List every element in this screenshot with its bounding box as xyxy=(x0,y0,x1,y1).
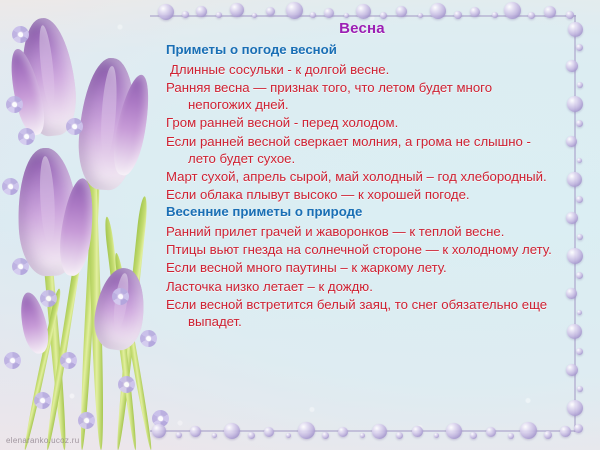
frame-line-bottom xyxy=(150,430,576,432)
list-item: Ласточка низко летает – к дождю. xyxy=(166,278,558,295)
small-lilac-blossom xyxy=(2,178,19,195)
small-lilac-blossom xyxy=(78,412,95,429)
section-heading-nature: Весенние приметы о природе xyxy=(166,204,558,221)
small-lilac-blossom xyxy=(66,118,83,135)
list-item: Если весной встретится белый заяц, то сн… xyxy=(166,296,558,330)
spring-omens-slide: Весна Приметы о погоде весной Длинные со… xyxy=(0,0,600,450)
list-item: Март сухой, апрель сырой, май холодный –… xyxy=(166,168,558,185)
list-item: Ранняя весна — признак того, что летом б… xyxy=(166,79,558,113)
watermark: elenaranko.ucoz.ru xyxy=(6,436,79,445)
list-item: Ранний прилет грачей и жаворонков — к те… xyxy=(166,223,558,240)
list-item: Если облака плывут высоко — к хорошей по… xyxy=(166,186,558,203)
page-title: Весна xyxy=(166,20,558,37)
small-lilac-blossom xyxy=(34,392,51,409)
list-item: Если ранней весной сверкает молния, а гр… xyxy=(166,133,558,167)
small-lilac-blossom xyxy=(140,330,157,347)
small-lilac-blossom xyxy=(60,352,77,369)
small-lilac-blossom xyxy=(12,258,29,275)
small-lilac-blossom xyxy=(6,96,23,113)
small-lilac-blossom xyxy=(18,128,35,145)
small-lilac-blossom xyxy=(118,376,135,393)
small-lilac-blossom xyxy=(12,26,29,43)
list-item: Если весной много паутины – к жаркому ле… xyxy=(166,259,558,276)
slide-text-content: Весна Приметы о погоде весной Длинные со… xyxy=(166,20,558,331)
section-heading-weather: Приметы о погоде весной xyxy=(166,42,558,59)
list-item: Длинные сосульки - к долгой весне. xyxy=(166,61,558,78)
list-item: Гром ранней весной - перед холодом. xyxy=(166,114,558,131)
small-lilac-blossom xyxy=(40,290,57,307)
small-lilac-blossom xyxy=(4,352,21,369)
crocus-bouquet-image xyxy=(0,0,185,450)
small-lilac-blossom xyxy=(112,288,129,305)
list-item: Птицы вьют гнезда на солнечной стороне —… xyxy=(166,241,558,258)
